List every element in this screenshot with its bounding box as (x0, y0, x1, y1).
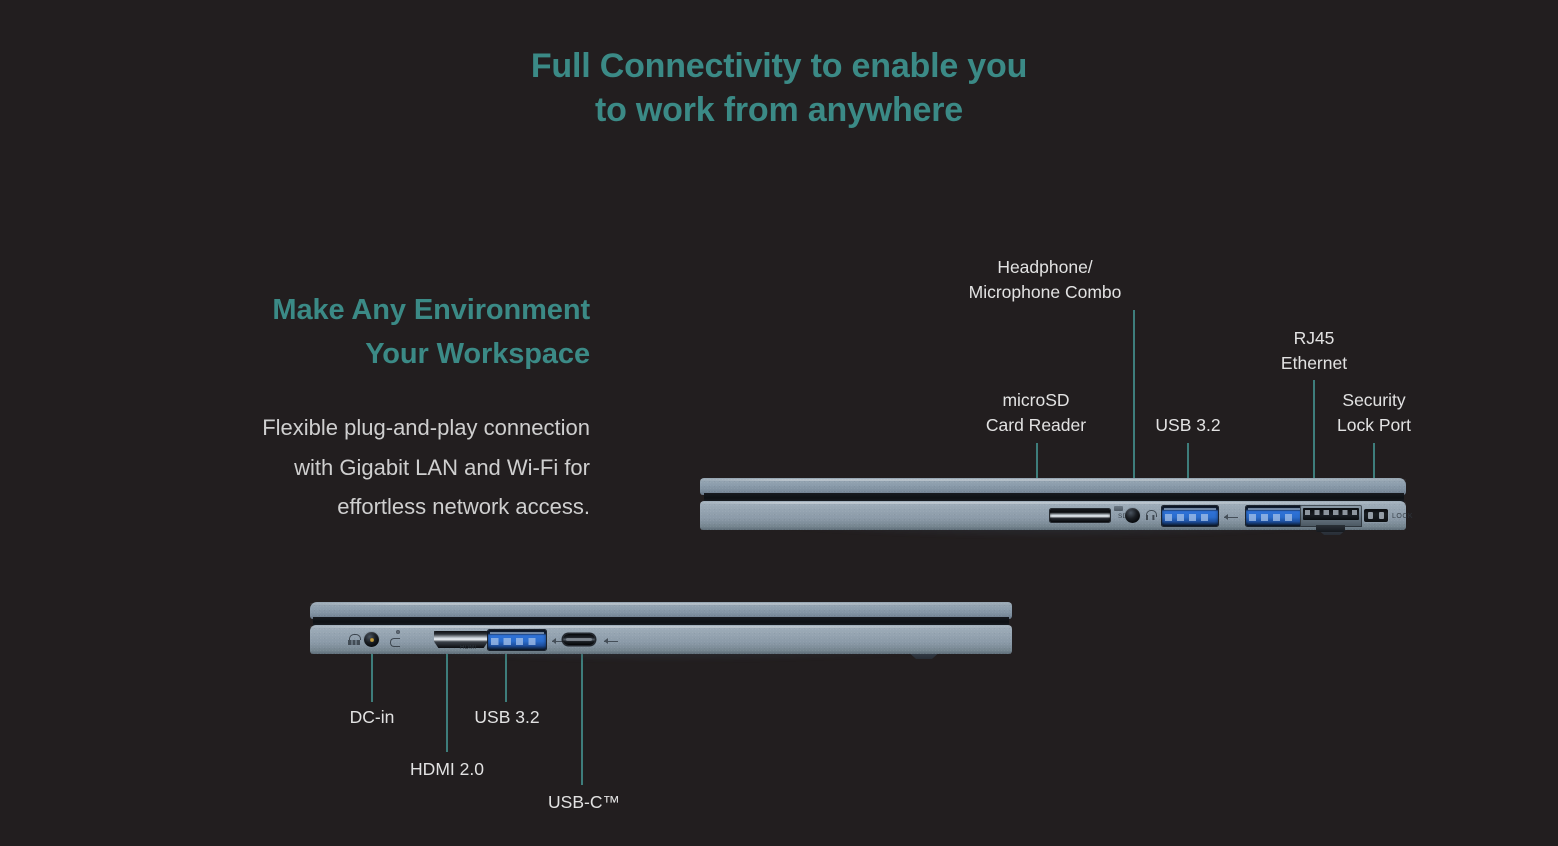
leader-line-usbc (581, 650, 583, 785)
callout-usbc-line-1: USB-C™ (528, 790, 640, 815)
callout-rj45-line-1: RJ45 (1244, 326, 1384, 351)
usb-a-3-2-port-1[interactable] (1162, 506, 1218, 526)
lid-highlight (700, 479, 1406, 481)
hdmi-label-icon: HDMI (460, 645, 477, 651)
lid2-highlight (310, 603, 1012, 605)
body-line-2: with Gigabit LAN and Wi-Fi for (150, 448, 590, 488)
callout-label-hdmi: HDMI 2.0 (392, 757, 502, 782)
callout-dcin-line-1: DC-in (322, 705, 422, 730)
usb-c-icon (604, 637, 618, 645)
product-connectivity-slide: Full Connectivity to enable you to work … (0, 0, 1558, 846)
section-subtitle-line-2: Your Workspace (160, 332, 590, 376)
callout-lock-line-2: Lock Port (1306, 413, 1442, 438)
callout-rj45-line-2: Ethernet (1244, 351, 1384, 376)
callout-microsd-line-1: microSD (948, 388, 1124, 413)
hero-title: Full Connectivity to enable you to work … (0, 44, 1558, 132)
usb-c-port[interactable] (563, 634, 595, 645)
hero-title-line-2: to work from anywhere (0, 88, 1558, 132)
usb-a-3-2-port-2[interactable] (1246, 506, 1302, 526)
hero-title-line-1: Full Connectivity to enable you (531, 47, 1027, 85)
usb-icon-1 (1224, 513, 1238, 521)
section-body-copy: Flexible plug-and-play connection with G… (150, 408, 590, 527)
callout-headphone-line-2: Microphone Combo (955, 280, 1135, 305)
callout-usb32-left-line-1: USB 3.2 (452, 705, 562, 730)
callout-label-headphone-mic: Headphone/ Microphone Combo (955, 255, 1135, 305)
callout-label-rj45-ethernet: RJ45 Ethernet (1244, 326, 1384, 376)
base2-highlight (310, 626, 1012, 628)
body-line-3: effortless network access. (150, 487, 590, 527)
headphone-icon (1146, 510, 1155, 521)
section-subtitle-line-1: Make Any Environment (272, 294, 590, 326)
laptop2-base: HDMI (310, 625, 1012, 654)
base2-texture (310, 625, 1012, 654)
callout-microsd-line-2: Card Reader (948, 413, 1124, 438)
laptop-base: SD (700, 501, 1406, 530)
callout-label-usbc: USB-C™ (528, 790, 640, 815)
base-highlight (700, 502, 1406, 504)
laptop-right-side-profile: SD (700, 478, 1410, 542)
rj45-latch-tab (1316, 525, 1345, 532)
battery-indicator-icon (390, 637, 406, 646)
rj45-pins (1305, 510, 1357, 515)
callout-headphone-line-1: Headphone/ (955, 255, 1135, 280)
section-subtitle: Make Any Environment Your Workspace (160, 288, 590, 376)
laptop-left-side-profile: HDMI (310, 602, 1015, 666)
lock-icon: LOCK (1392, 513, 1413, 520)
status-led (396, 630, 400, 634)
security-lock-slot[interactable] (1364, 509, 1388, 522)
callout-label-dc-in: DC-in (322, 705, 422, 730)
sd-silkscreen-mark (1114, 506, 1123, 511)
dc-in-icon (348, 634, 360, 645)
usb-a-3-2-port[interactable] (488, 630, 546, 650)
headphone-microphone-jack[interactable] (1125, 508, 1140, 523)
callout-label-usb32-left: USB 3.2 (452, 705, 562, 730)
body-line-1: Flexible plug-and-play connection (150, 408, 590, 448)
callout-usb32-right-line-1: USB 3.2 (1128, 413, 1248, 438)
microsd-card-slot[interactable] (1050, 509, 1110, 522)
callout-lock-line-1: Security (1306, 388, 1442, 413)
rj45-ethernet-port[interactable] (1300, 505, 1362, 527)
callout-label-security-lock: Security Lock Port (1306, 388, 1442, 438)
callout-hdmi-line-1: HDMI 2.0 (392, 757, 502, 782)
callout-label-usb32-right: USB 3.2 (1128, 413, 1248, 438)
dc-in-barrel-jack[interactable] (364, 632, 379, 647)
callout-label-microsd: microSD Card Reader (948, 388, 1124, 438)
